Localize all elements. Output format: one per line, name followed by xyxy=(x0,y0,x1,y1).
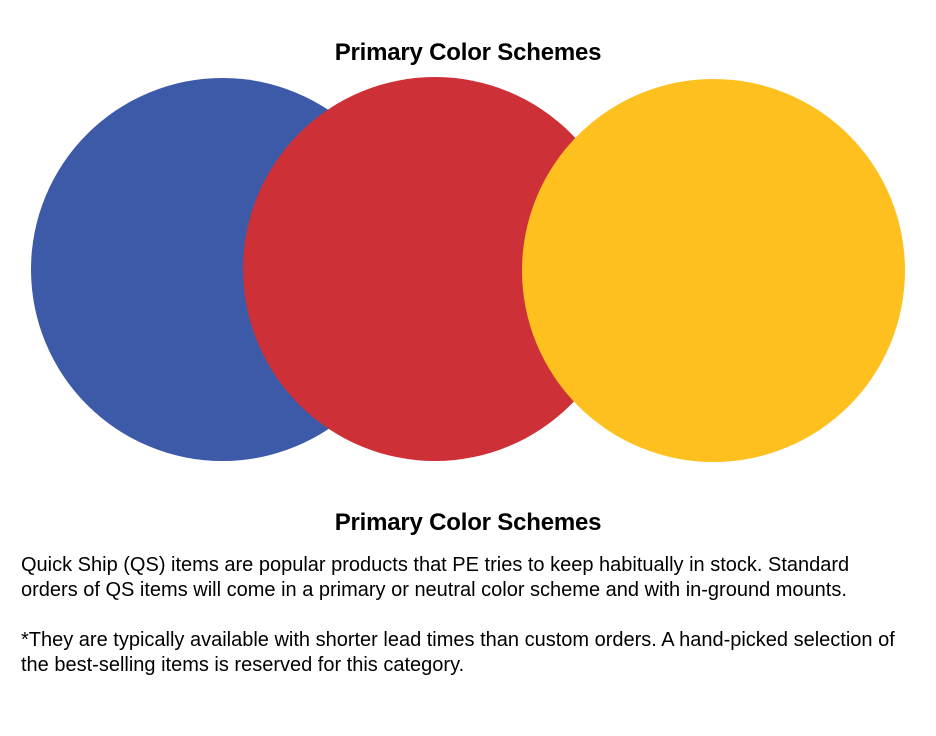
yellow-circle xyxy=(522,79,905,462)
body-copy: Quick Ship (QS) items are popular produc… xyxy=(21,553,911,678)
paragraph-1: Quick Ship (QS) items are popular produc… xyxy=(21,553,911,603)
primary-color-circles-diagram xyxy=(0,0,936,480)
page-title-bottom: Primary Color Schemes xyxy=(0,510,936,536)
paragraph-2: *They are typically available with short… xyxy=(21,628,911,678)
slide-page: Primary Color Schemes Primary Color Sche… xyxy=(0,0,936,736)
